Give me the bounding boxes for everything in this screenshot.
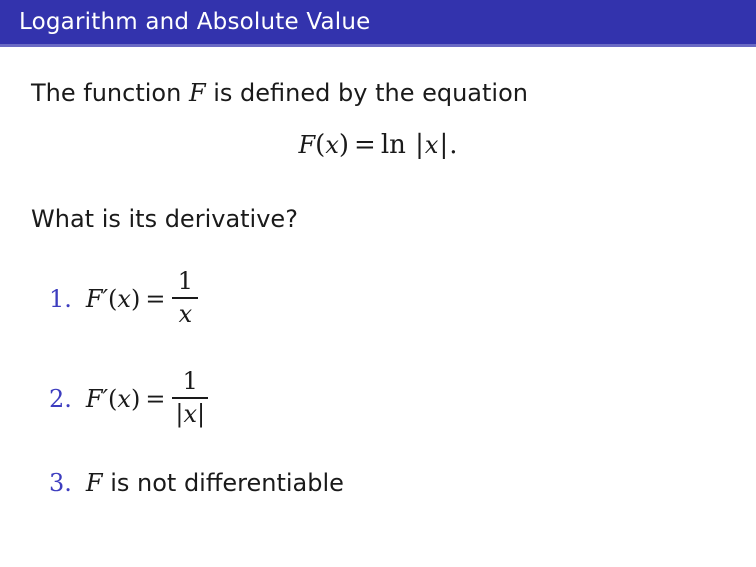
choice-1-close-paren: )	[131, 285, 140, 313]
choice-2-denominator: |x|	[172, 401, 208, 428]
choice-2-arg-x: x	[117, 385, 131, 413]
choice-1-function-F: F	[86, 285, 103, 313]
choice-1-equals-sign: =	[140, 285, 170, 313]
choice-3-text: is not differentiable	[110, 469, 344, 497]
equation-function-F: F	[299, 131, 316, 159]
choice-2-open-paren: (	[108, 385, 117, 413]
choice-1-arg-x: x	[117, 285, 131, 313]
question-sentence: What is its derivative?	[31, 204, 298, 234]
choice-1-fraction: 1x	[172, 268, 198, 328]
intro-sentence: The function F is defined by the equatio…	[31, 78, 528, 108]
choice-2-fraction: 1|x|	[172, 368, 208, 428]
choice-1-fraction-rule	[172, 297, 198, 299]
choice-1-open-paren: (	[108, 285, 117, 313]
equation-ln-operator: ln	[381, 130, 406, 160]
choice-2-numerator: 1	[180, 368, 201, 395]
choice-3-expression: F is not differentiable	[86, 469, 344, 497]
intro-before-variable: The function	[31, 79, 181, 107]
slide-body: The function F is defined by the equatio…	[0, 47, 756, 567]
title-bar: Logarithm and Absolute Value	[0, 0, 756, 44]
choice-2-number: 2.	[49, 385, 72, 413]
choice-2-expression: F′(x)=1|x|	[86, 369, 210, 429]
choice-1-numerator: 1	[175, 268, 196, 295]
choice-2-function-F: F	[86, 385, 103, 413]
choice-1-expression: F′(x)=1x	[86, 269, 201, 329]
choice-item-3[interactable]: 3. F is not differentiable	[49, 469, 344, 497]
choice-2-close-paren: )	[131, 385, 140, 413]
equation-equals-sign: =	[349, 130, 381, 160]
equation-period: .	[449, 130, 457, 160]
intro-variable-F: F	[189, 79, 206, 107]
choice-3-number: 3.	[49, 469, 72, 497]
slide: Logarithm and Absolute Value The functio…	[0, 0, 756, 567]
slide-title: Logarithm and Absolute Value	[19, 6, 371, 38]
choice-item-1[interactable]: 1. F′(x)=1x	[49, 269, 200, 329]
choice-item-2[interactable]: 2. F′(x)=1|x|	[49, 369, 210, 429]
choice-1-denominator: x	[176, 301, 196, 328]
choice-2-equals-sign: =	[140, 385, 170, 413]
equation-abs-close-bar: |	[438, 130, 449, 160]
equation-abs-open-bar: |	[414, 130, 425, 160]
equation-close-paren: )	[339, 130, 349, 160]
equation-abs-arg-x: x	[425, 131, 439, 159]
equation-arg-x: x	[325, 131, 339, 159]
choice-3-function-F: F	[86, 469, 103, 497]
equation-open-paren: (	[315, 130, 325, 160]
display-equation: F(x)=ln |x|.	[0, 130, 756, 160]
choice-2-fraction-rule	[172, 397, 208, 399]
choice-1-number: 1.	[49, 285, 72, 313]
intro-after-variable: is defined by the equation	[213, 79, 528, 107]
